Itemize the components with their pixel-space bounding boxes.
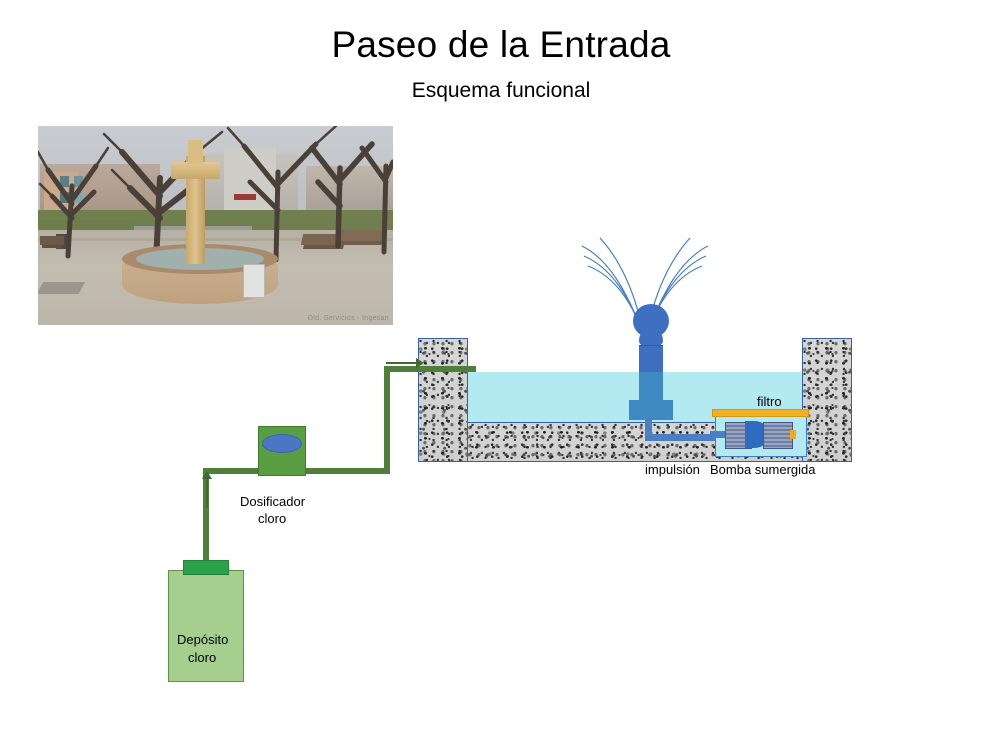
slide-canvas: Paseo de la Entrada Esquema funcional xyxy=(0,0,1002,745)
chlorine-pipe-to-doser xyxy=(203,468,265,474)
page-subtitle: Esquema funcional xyxy=(0,79,1002,103)
photo-watermark: Old. Servicios - Ingesan xyxy=(307,315,389,322)
chlorine-pipe-into-basin xyxy=(384,366,476,372)
impulsion-label: impulsión xyxy=(645,462,700,477)
doser-label-line2: cloro xyxy=(258,511,286,526)
chlorine-pipe-vertical-right xyxy=(384,366,390,474)
filter-element xyxy=(712,409,809,417)
doser-label-line1: Dosificador xyxy=(240,494,305,509)
fountain-pedestal xyxy=(629,400,673,420)
submersible-pump xyxy=(723,421,795,449)
pump-label: Bomba sumergida xyxy=(710,462,816,477)
arrow-up-icon xyxy=(206,478,208,508)
page-title: Paseo de la Entrada xyxy=(0,26,1002,65)
photo-fountain-column-cap xyxy=(171,162,220,179)
pump-inlet xyxy=(710,431,725,438)
chlorine-tank xyxy=(168,570,244,682)
basin-wall-right xyxy=(802,338,852,462)
fountain-stem-lower xyxy=(639,372,663,402)
chlorine-doser-cap xyxy=(262,434,302,453)
chlorine-tank-cap xyxy=(183,560,229,575)
fountain-nozzle-cone xyxy=(639,327,663,347)
basin-wall-left xyxy=(418,338,468,462)
pump-body-right xyxy=(763,422,793,449)
photo-fountain-column-top xyxy=(188,140,203,164)
arrow-right-icon xyxy=(386,362,416,364)
filter-label: filtro xyxy=(757,394,782,409)
photo-control-cabinet xyxy=(243,264,265,298)
park-fountain-photograph: Old. Servicios - Ingesan xyxy=(38,126,393,325)
pump-outlet xyxy=(790,430,796,439)
fountain-stem-upper xyxy=(639,345,663,374)
photo-paving-slab xyxy=(38,282,85,294)
chlorine-pipe-doser-outlet xyxy=(300,468,390,474)
tank-label-line2: cloro xyxy=(188,650,216,665)
tank-label-line1: Depósito xyxy=(177,632,228,647)
